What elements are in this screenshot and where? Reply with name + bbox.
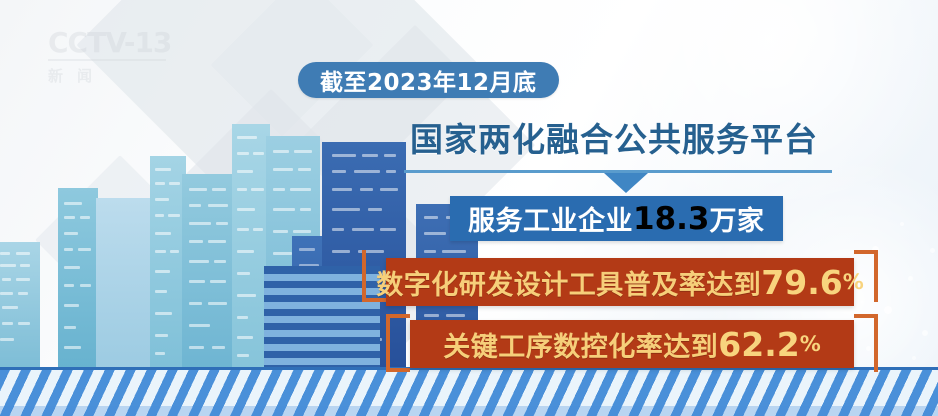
date-badge: 截至2023年12月底 [298, 62, 559, 98]
stat-unit: % [800, 332, 821, 356]
stat-prefix: 服务工业企业 [468, 199, 633, 238]
logo-rule [48, 59, 166, 61]
stat-suffix: 万家 [710, 199, 765, 238]
page-title-text: 国家两化融合公共服务平台 [410, 120, 830, 160]
cctv13-logo: CCTV-13 新闻 [48, 28, 188, 98]
stat-prefix: 数字化研发设计工具普及率达到 [376, 263, 761, 302]
stat-prefix: 关键工序数控化率达到 [443, 325, 718, 364]
stat-bar-digital-rd-design-tools: 数字化研发设计工具普及率达到79.6% [386, 258, 854, 306]
building [58, 188, 98, 370]
stat-value: 62.2 [718, 325, 799, 364]
stat-unit: % [843, 270, 864, 294]
bracket-right-bottom [852, 314, 878, 372]
stat-value: 18.3 [633, 201, 710, 237]
stat-bar-key-process-cnc-rate: 关键工序数控化率达到62.2% [410, 320, 854, 368]
bottom-striped-band [0, 367, 938, 416]
page-title: 国家两化融合公共服务平台 [410, 120, 830, 160]
infographic-slide: CCTV-13 新闻 [0, 0, 938, 416]
title-pointer-triangle-icon [604, 173, 648, 193]
cctv-logo-text: CCTV-13 [48, 28, 188, 58]
building [0, 242, 40, 370]
stat-value: 79.6 [761, 263, 842, 302]
building [150, 156, 186, 370]
date-badge-label: 截至2023年12月底 [320, 63, 537, 97]
stat-bar-served-enterprises: 服务工业企业18.3万家 [450, 196, 783, 241]
cctv-logo-subtitle: 新闻 [48, 65, 188, 86]
bracket-left-bottom [386, 314, 412, 372]
